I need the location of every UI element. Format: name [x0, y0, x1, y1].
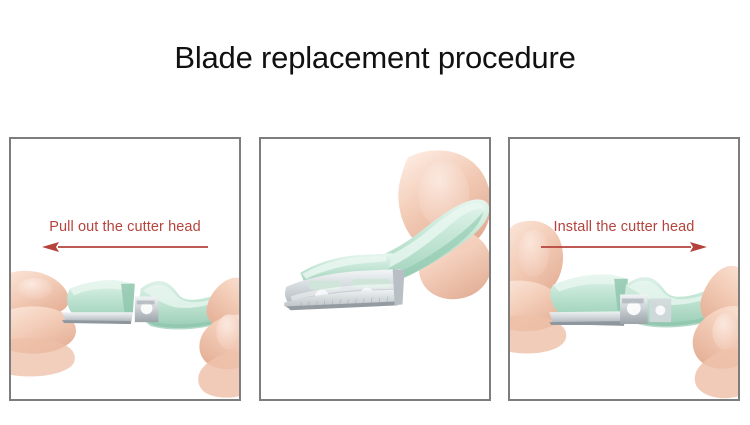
panel-blade-detail-step [259, 137, 491, 401]
panel-pull-out-step: Pull out the cutter head [9, 137, 241, 401]
panel-install-step: Install the cutter head [508, 137, 740, 401]
panel-caption-pull-out: Pull out the cutter head [11, 219, 239, 235]
illustration-pull-out [11, 139, 239, 399]
arrow-left-wrapper [11, 240, 239, 254]
page-title: Blade replacement procedure [0, 38, 750, 78]
right-hand [693, 266, 738, 398]
panel-caption-install: Install the cutter head [510, 219, 738, 235]
illustration-install [510, 139, 738, 399]
illustration-blade-detail [261, 139, 489, 399]
right-hand [198, 278, 239, 398]
blade-replacement-infographic: Blade replacement procedure [0, 0, 750, 425]
arrow-left-icon [40, 240, 210, 254]
arrow-right-icon [539, 240, 709, 254]
arrow-right-wrapper [510, 240, 738, 254]
left-hand [11, 271, 76, 377]
cutter-head-piece [549, 274, 628, 326]
cutter-head-piece [62, 280, 135, 324]
